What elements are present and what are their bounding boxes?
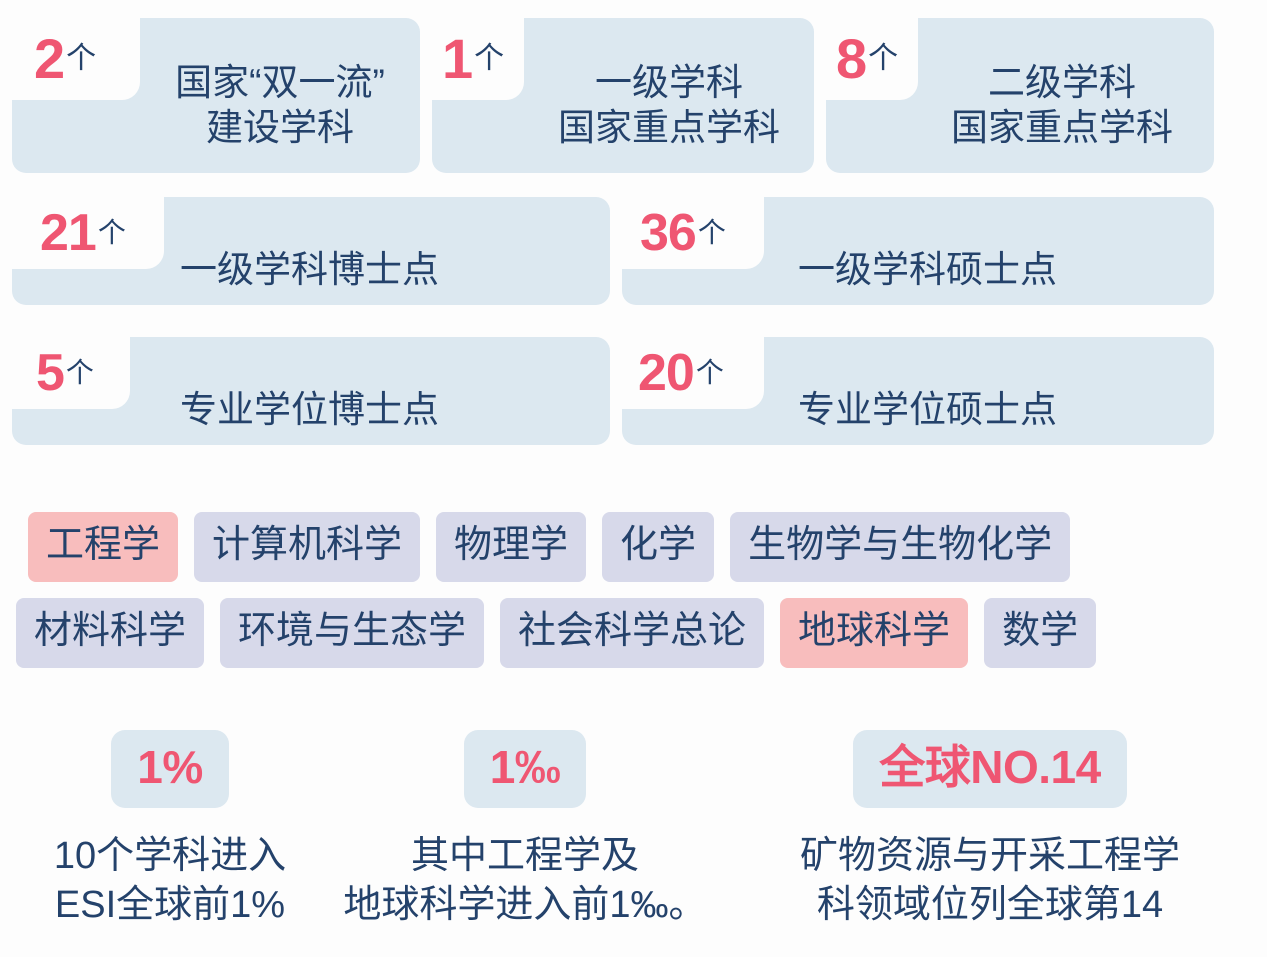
stat-notch: 2 个 <box>12 18 140 100</box>
stat-unit: 个 <box>868 44 898 74</box>
stat-number: 21 <box>40 207 96 259</box>
discipline-chip-environment-ecology[interactable]: 环境与生态学 <box>220 598 484 668</box>
stat-notch: 20 个 <box>622 337 764 409</box>
stat-notch: 5 个 <box>12 337 130 409</box>
stat-card-professional-doctoral-programs: 5 个 专业学位博士点 <box>12 337 610 445</box>
discipline-chip-chemistry[interactable]: 化学 <box>602 512 714 582</box>
esi-caption: 矿物资源与开采工程学 科领域位列全球第14 <box>730 832 1250 929</box>
stat-number: 8 <box>836 31 866 87</box>
stat-number: 2 <box>34 31 64 87</box>
discipline-chip-mathematics[interactable]: 数学 <box>984 598 1096 668</box>
discipline-chip-physics[interactable]: 物理学 <box>436 512 586 582</box>
esi-badge: 全球NO.14 <box>853 730 1126 808</box>
stat-unit: 个 <box>698 219 726 247</box>
stat-notch: 1 个 <box>432 18 524 100</box>
stat-label: 二级学科 国家重点学科 <box>910 60 1214 150</box>
stat-number: 20 <box>638 347 694 399</box>
discipline-chip-row-1: 工程学 计算机科学 物理学 化学 生物学与生物化学 <box>28 512 1086 582</box>
stat-label: 一级学科 国家重点学科 <box>524 60 814 150</box>
stat-label: 国家“双一流” 建设学科 <box>140 60 420 150</box>
discipline-chip-computer-science[interactable]: 计算机科学 <box>194 512 420 582</box>
stat-label: 一级学科硕士点 <box>798 247 1057 292</box>
esi-caption: 其中工程学及 地球科学进入前1‰。 <box>330 832 720 929</box>
discipline-chip-row-2: 材料科学 环境与生态学 社会科学总论 地球科学 数学 <box>16 598 1112 668</box>
esi-badge: 1‰ <box>464 730 587 808</box>
infographic-root: 2 个 国家“双一流” 建设学科 1 个 一级学科 国家重点学科 8 个 二级学… <box>0 0 1267 957</box>
stat-card-first-level-master-programs: 36 个 一级学科硕士点 <box>622 197 1214 305</box>
discipline-chip-materials-science[interactable]: 材料科学 <box>16 598 204 668</box>
stat-label: 一级学科博士点 <box>180 247 439 292</box>
esi-badge: 1% <box>111 730 228 808</box>
discipline-chip-geosciences[interactable]: 地球科学 <box>780 598 968 668</box>
esi-stat-top-1-permille: 1‰ 其中工程学及 地球科学进入前1‰。 <box>330 730 720 929</box>
stat-notch: 8 个 <box>826 18 918 100</box>
discipline-chip-biology-biochemistry[interactable]: 生物学与生物化学 <box>730 512 1070 582</box>
esi-caption: 10个学科进入 ESI全球前1% <box>20 832 320 929</box>
stat-number: 1 <box>442 31 472 87</box>
stat-number: 5 <box>36 347 64 399</box>
stat-card-second-level-national-key: 8 个 二级学科 国家重点学科 <box>826 18 1214 173</box>
discipline-chip-social-sciences[interactable]: 社会科学总论 <box>500 598 764 668</box>
stat-notch: 36 个 <box>622 197 764 269</box>
stat-unit: 个 <box>66 359 94 387</box>
esi-stat-top-1-percent: 1% 10个学科进入 ESI全球前1% <box>20 730 320 929</box>
stat-unit: 个 <box>474 44 504 74</box>
stat-notch: 21 个 <box>12 197 164 269</box>
stat-card-national-double-first-class: 2 个 国家“双一流” 建设学科 <box>12 18 420 173</box>
discipline-chip-engineering[interactable]: 工程学 <box>28 512 178 582</box>
esi-stat-global-rank-14: 全球NO.14 矿物资源与开采工程学 科领域位列全球第14 <box>730 730 1250 929</box>
stat-number: 36 <box>640 207 696 259</box>
stat-unit: 个 <box>66 44 96 74</box>
stat-card-first-level-national-key: 1 个 一级学科 国家重点学科 <box>432 18 814 173</box>
stat-label: 专业学位硕士点 <box>798 387 1057 432</box>
stat-unit: 个 <box>696 359 724 387</box>
stat-card-first-level-doctoral-programs: 21 个 一级学科博士点 <box>12 197 610 305</box>
stat-label: 专业学位博士点 <box>180 387 439 432</box>
stat-card-professional-master-programs: 20 个 专业学位硕士点 <box>622 337 1214 445</box>
stat-unit: 个 <box>98 219 126 247</box>
